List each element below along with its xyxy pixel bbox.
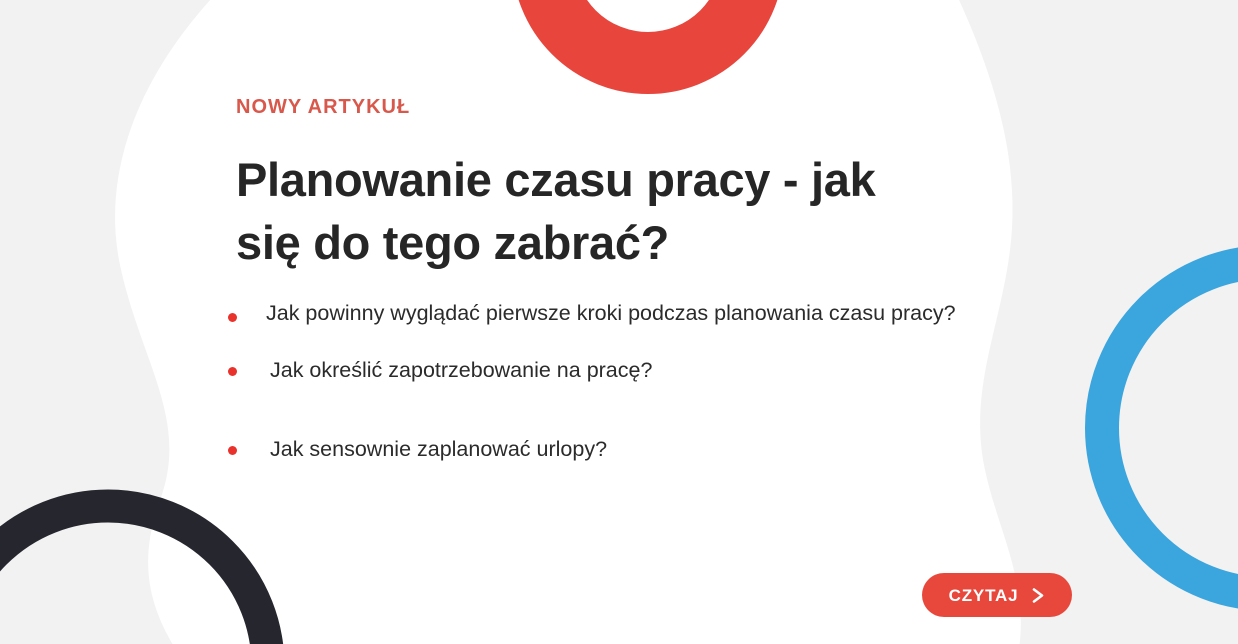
bullet-dot-icon: [228, 367, 237, 376]
list-item: Jak sensownie zaplanować urlopy?: [222, 434, 1002, 465]
article-promo-card: NOWY ARTYKUŁ Planowanie czasu pracy - ja…: [0, 0, 1238, 644]
question-list: Jak powinny wyglądać pierwsze kroki podc…: [222, 298, 1002, 491]
list-item-label: Jak sensownie zaplanować urlopy?: [270, 437, 607, 461]
bullet-dot-icon: [228, 313, 237, 322]
list-item-label: Jak powinny wyglądać pierwsze kroki podc…: [266, 301, 956, 325]
list-item: Jak określić zapotrzebowanie na pracę?: [222, 355, 1002, 386]
card-content: NOWY ARTYKUŁ Planowanie czasu pracy - ja…: [0, 0, 1238, 644]
eyebrow-label: NOWY ARTYKUŁ: [236, 96, 410, 119]
bullet-dot-icon: [228, 446, 237, 455]
read-more-button[interactable]: CZYTAJ: [922, 573, 1072, 617]
list-item: Jak powinny wyglądać pierwsze kroki podc…: [222, 298, 1002, 329]
list-item-label: Jak określić zapotrzebowanie na pracę?: [270, 358, 652, 382]
read-more-label: CZYTAJ: [949, 587, 1019, 604]
page-title: Planowanie czasu pracy - jak się do tego…: [236, 148, 936, 274]
chevron-right-icon: [1032, 588, 1045, 603]
